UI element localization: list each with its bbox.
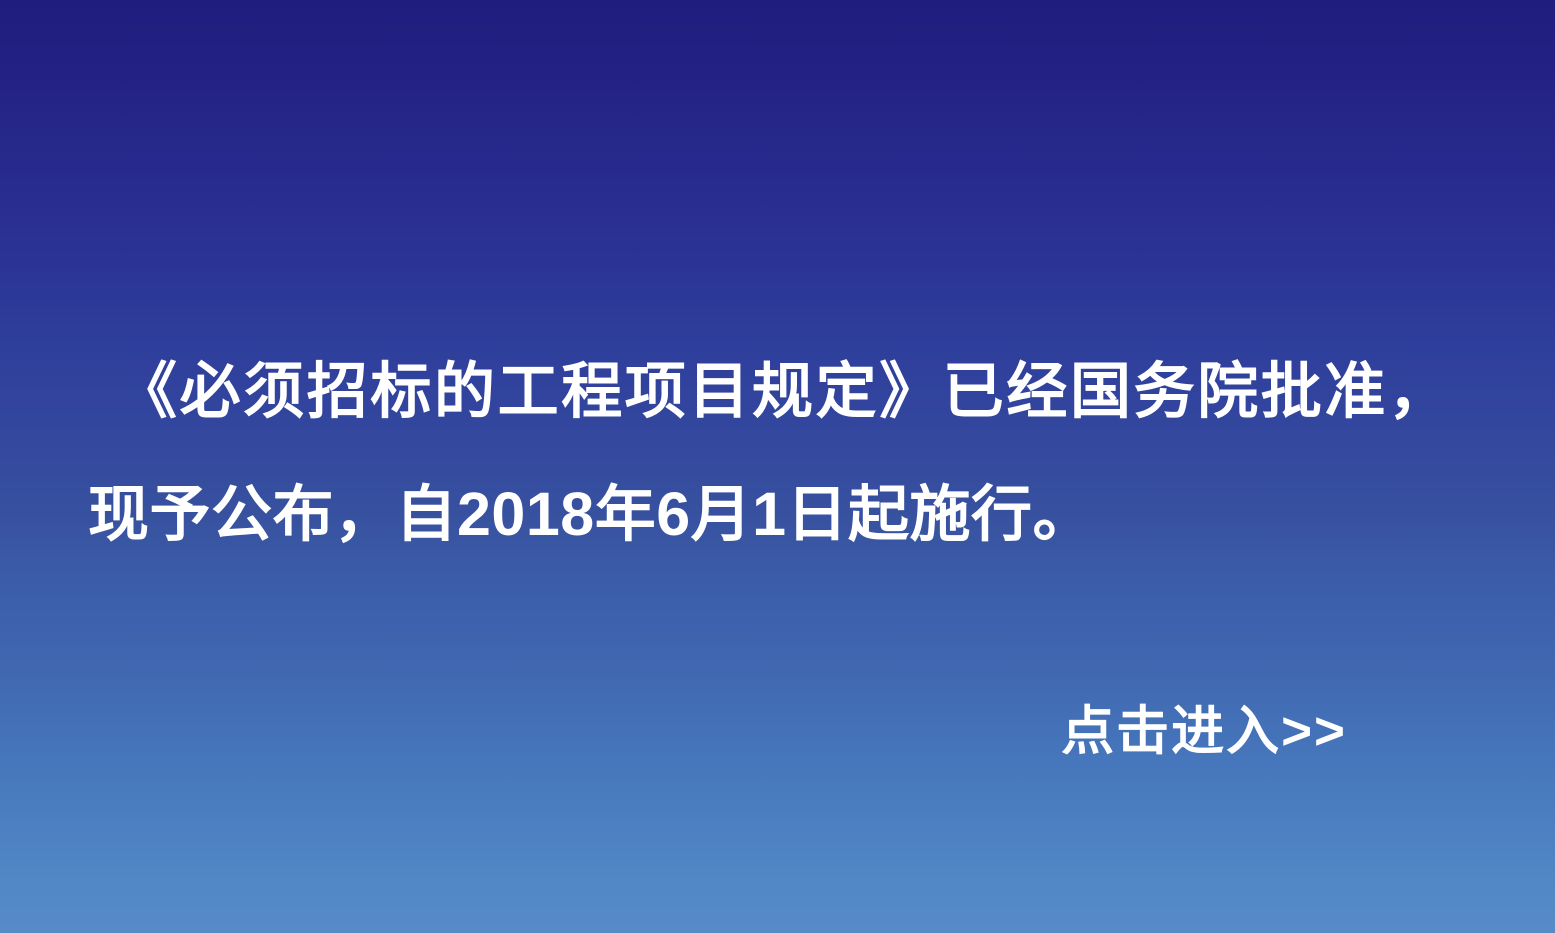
announcement-line-2: 现予公布，自2018年6月1日起施行。	[78, 453, 1478, 576]
enter-link[interactable]: 点击进入>>	[1061, 705, 1347, 758]
announcement-line-1: 《必须招标的工程项目规定》已经国务院批准，	[78, 330, 1478, 453]
announcement-text-block: 《必须招标的工程项目规定》已经国务院批准， 现予公布，自2018年6月1日起施行…	[78, 330, 1478, 576]
announcement-banner: 《必须招标的工程项目规定》已经国务院批准， 现予公布，自2018年6月1日起施行…	[0, 0, 1555, 933]
cta-container: 点击进入>>	[0, 686, 1555, 776]
